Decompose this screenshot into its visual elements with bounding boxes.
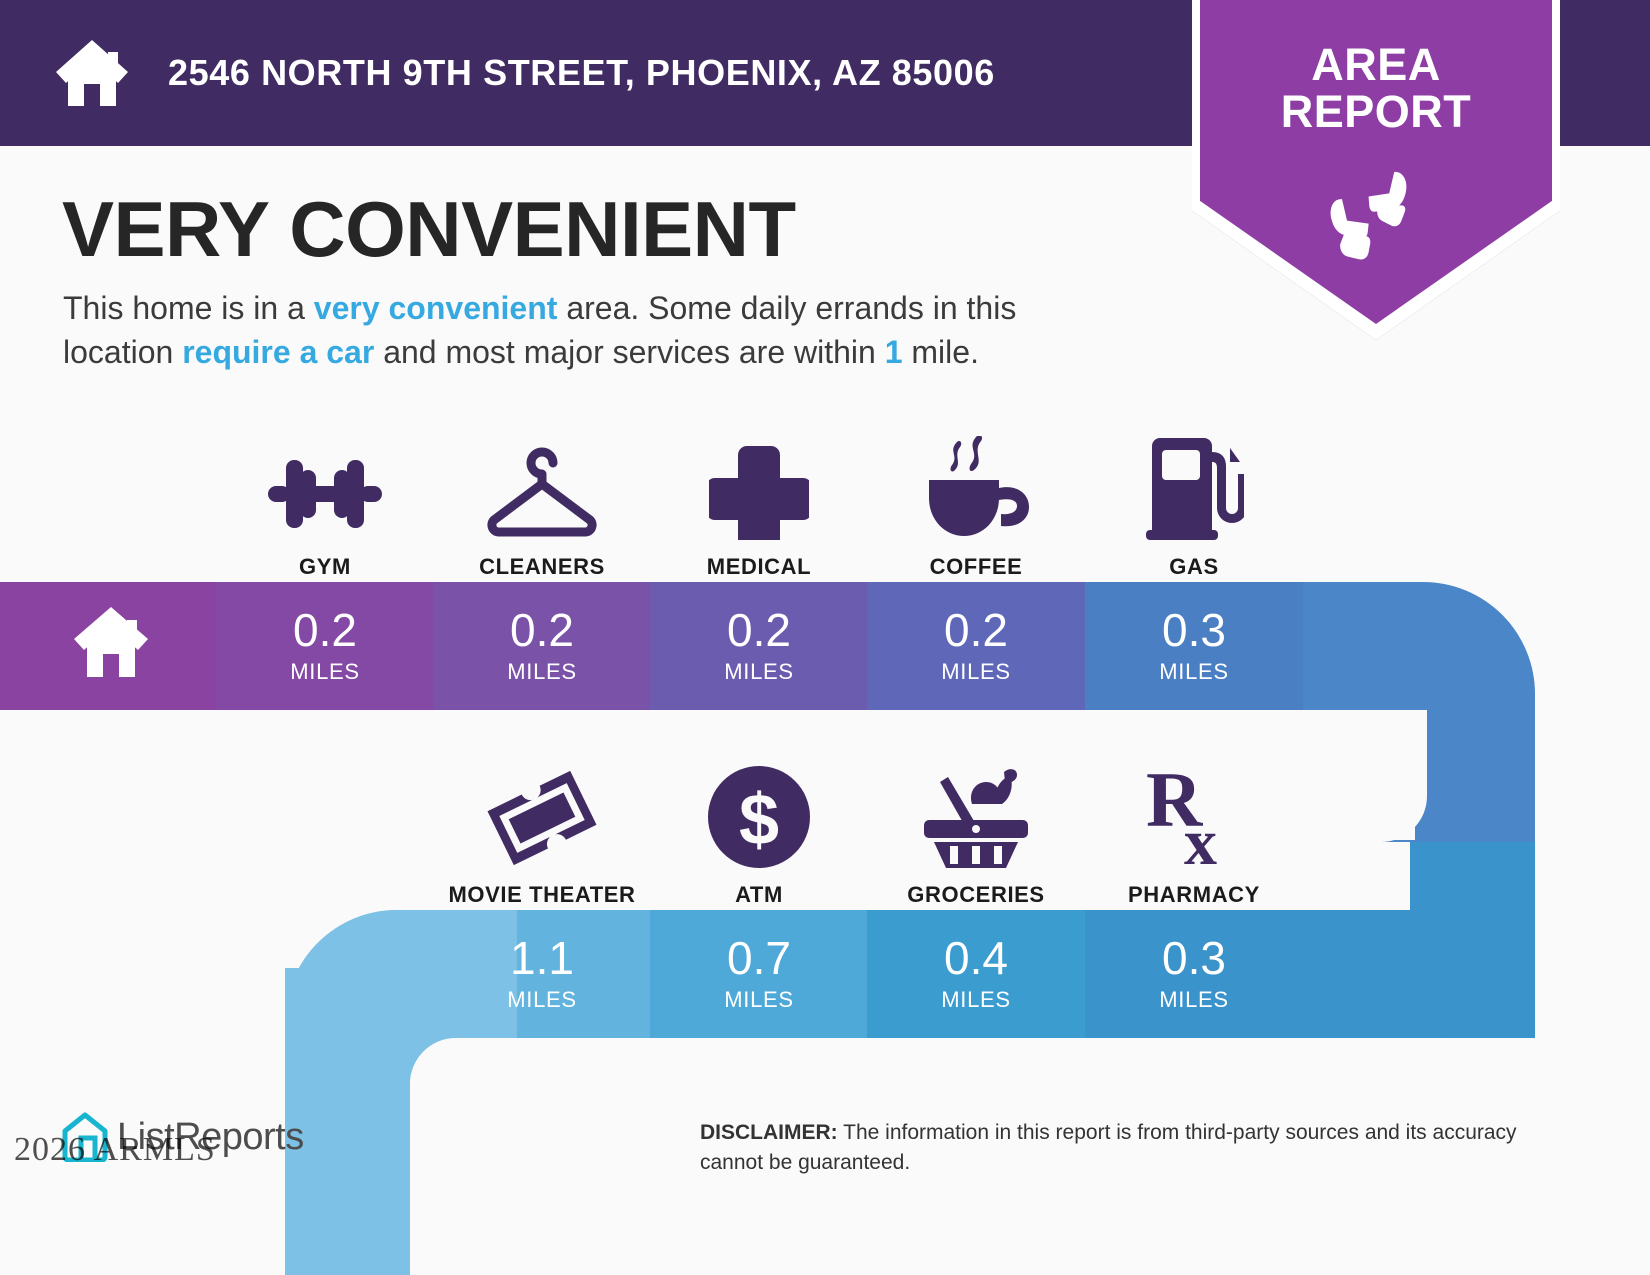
ribbon-segment-cleaners	[433, 582, 650, 710]
badge-line-2: REPORT	[1200, 89, 1552, 136]
category-medical: MEDICAL	[650, 432, 868, 580]
category-movie-theater: MOVIE THEATER	[433, 760, 651, 908]
category-label: COFFEE	[867, 554, 1085, 580]
disclaimer-label: DISCLAIMER:	[700, 1121, 838, 1144]
category-gym: GYM	[216, 432, 434, 580]
area-report-badge-text: AREA REPORT	[1200, 42, 1552, 136]
category-groceries: GROCERIES	[867, 760, 1085, 908]
category-label: MEDICAL	[650, 554, 868, 580]
category-label: PHARMACY	[1085, 882, 1303, 908]
mls-watermark: 2026 ARMLS	[14, 1131, 216, 1169]
category-label: ATM	[650, 882, 868, 908]
grocery-basket-icon	[867, 760, 1085, 868]
svg-text:$: $	[739, 780, 779, 860]
house-icon	[72, 605, 150, 684]
area-report-page: 2546 NORTH 9TH STREET, PHOENIX, AZ 85006…	[0, 0, 1650, 1275]
category-cleaners: CLEANERS	[433, 432, 651, 580]
category-atm: $ ATM	[650, 760, 868, 908]
gas-pump-icon	[1085, 432, 1303, 540]
disclaimer: DISCLAIMER: The information in this repo…	[700, 1118, 1520, 1178]
category-pharmacy: R x PHARMACY	[1085, 760, 1303, 908]
ribbon-segment-medical	[650, 582, 867, 710]
ribbon-segment-atm	[650, 910, 867, 1038]
ribbon-connector-right-notch-round	[1303, 710, 1427, 842]
coffee-cup-icon	[867, 432, 1085, 540]
pharmacy-rx-icon: R x	[1085, 760, 1303, 868]
category-label: GYM	[216, 554, 434, 580]
svg-text:x: x	[1184, 806, 1217, 868]
category-label: GAS	[1085, 554, 1303, 580]
dollar-circle-icon: $	[650, 760, 868, 868]
category-label: CLEANERS	[433, 554, 651, 580]
category-coffee: COFFEE	[867, 432, 1085, 580]
ribbon-segment-coffee	[867, 582, 1085, 710]
hanger-icon	[433, 432, 651, 540]
category-label: MOVIE THEATER	[433, 882, 651, 908]
ribbon-segment-gas	[1085, 582, 1303, 710]
medical-cross-icon	[650, 432, 868, 540]
movie-ticket-icon	[433, 760, 651, 868]
badge-line-1: AREA	[1200, 42, 1552, 89]
footprints-icon	[1200, 158, 1552, 268]
ribbon-segment-groceries	[867, 910, 1085, 1038]
category-label: GROCERIES	[867, 882, 1085, 908]
ribbon-segment-gym	[216, 582, 433, 710]
category-gas: GAS	[1085, 432, 1303, 580]
ribbon-connector-left-notch2	[410, 1038, 650, 1275]
dumbbell-icon	[216, 432, 434, 540]
ribbon-segment-pharmacy	[1085, 910, 1303, 1038]
